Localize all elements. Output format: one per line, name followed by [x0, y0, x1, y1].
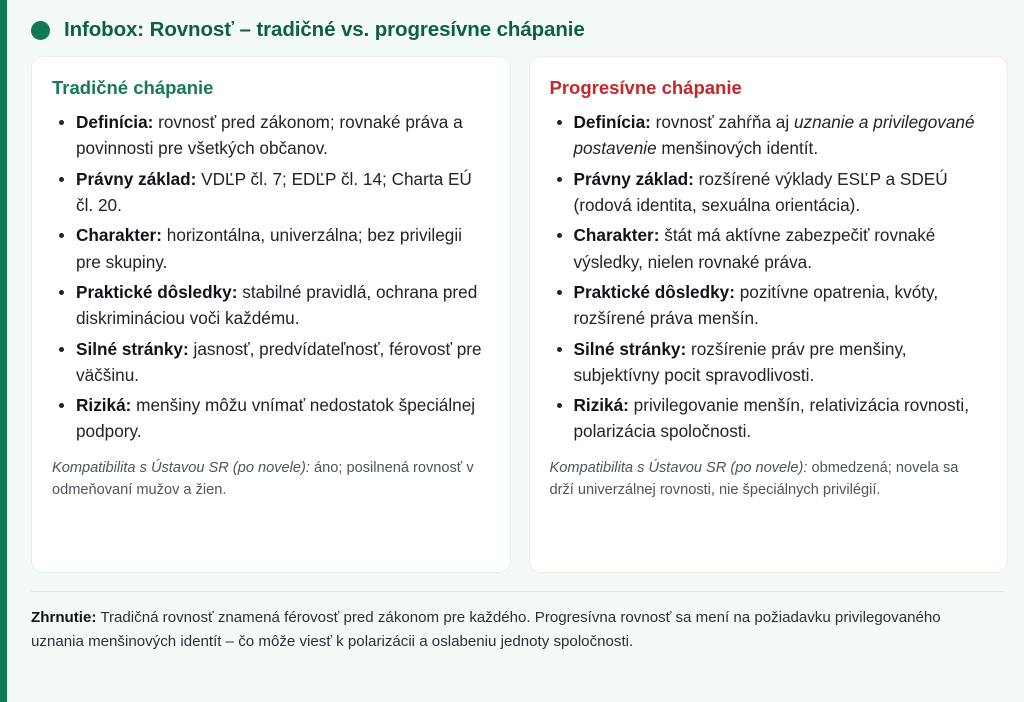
summary-section: Zhrnutie: Tradičná rovnosť znamená férov…: [7, 592, 1024, 655]
card-traditional: Tradičné chápanie Definícia: rovnosť pre…: [31, 56, 511, 573]
note-label: Kompatibilita s Ústavou SR (po novele):: [52, 460, 310, 476]
point-label: Právny základ:: [76, 169, 196, 189]
point-label: Charakter:: [76, 225, 162, 245]
point-label: Právny základ:: [574, 169, 694, 189]
list-item: Definícia: rovnosť zahŕňa aj uznanie a p…: [550, 109, 986, 162]
point-label: Silné stránky:: [574, 339, 687, 359]
point-label: Riziká:: [76, 395, 131, 415]
card-progressive: Progresívne chápanie Definícia: rovnosť …: [529, 56, 1009, 573]
card-progressive-title: Progresívne chápanie: [550, 77, 986, 99]
infobox-header: Infobox: Rovnosť – tradičné vs. progresí…: [7, 0, 1024, 56]
list-item: Silné stránky: jasnosť, predvídateľnosť,…: [52, 336, 488, 389]
traditional-points-list: Definícia: rovnosť pred zákonom; rovnaké…: [52, 109, 488, 445]
progressive-points-list: Definícia: rovnosť zahŕňa aj uznanie a p…: [550, 109, 986, 445]
point-label: Praktické dôsledky:: [76, 282, 237, 302]
traditional-compatibility-note: Kompatibilita s Ústavou SR (po novele): …: [52, 457, 488, 501]
page-title: Infobox: Rovnosť – tradičné vs. progresí…: [64, 18, 585, 42]
point-label: Silné stránky:: [76, 339, 189, 359]
list-item: Charakter: štát má aktívne zabezpečiť ro…: [550, 222, 986, 275]
list-item: Silné stránky: rozšírenie práv pre menši…: [550, 336, 986, 389]
filled-circle-icon: [31, 21, 50, 40]
list-item: Definícia: rovnosť pred zákonom; rovnaké…: [52, 109, 488, 162]
list-item: Riziká: privilegovanie menšín, relativiz…: [550, 392, 986, 445]
infobox-container: Infobox: Rovnosť – tradičné vs. progresí…: [0, 0, 1024, 702]
list-item: Praktické dôsledky: stabilné pravidlá, o…: [52, 279, 488, 332]
point-text: privilegovanie menšín, relativizácia rov…: [574, 395, 970, 441]
list-item: Právny základ: rozšírené výklady ESĽP a …: [550, 166, 986, 219]
progressive-compatibility-note: Kompatibilita s Ústavou SR (po novele): …: [550, 457, 986, 501]
summary-label: Zhrnutie:: [31, 609, 96, 626]
card-traditional-title: Tradičné chápanie: [52, 77, 488, 99]
list-item: Riziká: menšiny môžu vnímať nedostatok š…: [52, 392, 488, 445]
summary-text: Tradičná rovnosť znamená férovosť pred z…: [31, 609, 941, 650]
point-text-after: menšinových identít.: [657, 138, 818, 158]
point-label: Definícia:: [574, 112, 651, 132]
note-label: Kompatibilita s Ústavou SR (po novele):: [550, 460, 808, 476]
point-label: Riziká:: [574, 395, 629, 415]
list-item: Praktické dôsledky: pozitívne opatrenia,…: [550, 279, 986, 332]
point-label: Charakter:: [574, 225, 660, 245]
list-item: Charakter: horizontálna, univerzálna; be…: [52, 222, 488, 275]
point-text: menšiny môžu vnímať nedostatok špeciálne…: [76, 395, 475, 441]
point-text: rovnosť zahŕňa aj: [651, 112, 794, 132]
point-label: Praktické dôsledky:: [574, 282, 735, 302]
point-label: Definícia:: [76, 112, 153, 132]
list-item: Právny základ: VDĽP čl. 7; EDĽP čl. 14; …: [52, 166, 488, 219]
comparison-columns: Tradičné chápanie Definícia: rovnosť pre…: [7, 56, 1024, 573]
